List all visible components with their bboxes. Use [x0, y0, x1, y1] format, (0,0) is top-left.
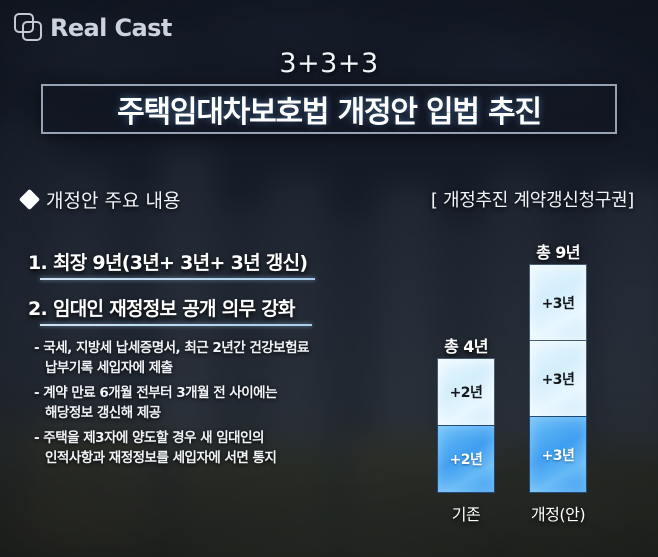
brand-logo: Real Cast: [14, 13, 172, 42]
bar-total-label: 총 9년: [529, 239, 587, 263]
list-item: 1. 최장 9년(3년+ 3년+ 3년 갱신): [28, 248, 307, 275]
bullet-line-1: - 주택을 제3자에 양도할 경우 새 임대인의: [34, 430, 264, 446]
infographic-canvas: Real Cast 3+3+3 주택임대차보호법 개정안 입법 추진 개정안 주…: [0, 0, 658, 557]
overlapping-squares-icon: [14, 13, 43, 42]
headline-title-box: 주택임대차보호법 개정안 입법 추진: [41, 84, 617, 134]
section-heading: 개정안 주요 내용: [22, 186, 180, 213]
bullet-line-2: 납부기록 세입자에 제출: [34, 358, 364, 378]
list-item: - 계약 만료 6개월 전부터 3개월 전 사이에는 해당정보 갱신해 제공: [34, 383, 364, 423]
stacked-bar-chart: 총 4년 +2년 +2년 기존 총 9년 +3년 +3년 +3년 개정(안): [400, 215, 650, 535]
bar-segment: +3년: [529, 264, 587, 341]
bar-segment: +3년: [529, 340, 587, 417]
bar-group-existing: 총 4년 +2년 +2년 기존: [437, 359, 495, 493]
bar-group-revised: 총 9년 +3년 +3년 +3년 개정(안): [529, 265, 587, 493]
list-item: - 주택을 제3자에 양도할 경우 새 임대인의 인적사항과 재정정보를 세입자…: [34, 428, 364, 468]
bar-category-label: 기존: [425, 501, 507, 525]
underline-accent: [40, 278, 315, 280]
bar-category-label: 개정(안): [517, 501, 599, 525]
bullet-line-1: - 계약 만료 6개월 전부터 3개월 전 사이에는: [34, 385, 277, 401]
list-item: 2. 임대인 재정정보 공개 의무 강화: [28, 294, 295, 321]
bullet-list: - 국세, 지방세 납세증명서, 최근 2년간 건강보험료 납부기록 세입자에 …: [34, 338, 364, 473]
diamond-bullet-icon: [19, 189, 40, 210]
bar-total-label: 총 4년: [437, 333, 495, 357]
bar-existing: +2년 +2년: [437, 359, 495, 493]
chart-title: [ 개정추진 계약갱신청구권]: [431, 186, 634, 212]
bullet-line-2: 인적사항과 재정정보를 세입자에 서면 통지: [34, 448, 364, 468]
bar-segment: +2년: [437, 425, 495, 493]
list-item: - 국세, 지방세 납세증명서, 최근 2년간 건강보험료 납부기록 세입자에 …: [34, 338, 364, 378]
underline-accent: [40, 324, 312, 326]
page-title: 주택임대차보호법 개정안 입법 추진: [117, 87, 541, 131]
bar-segment: +3년: [529, 416, 587, 493]
headline-eyebrow: 3+3+3: [0, 48, 658, 79]
bar-segment: +2년: [437, 358, 495, 426]
section-heading-label: 개정안 주요 내용: [46, 186, 180, 213]
bullet-line-1: - 국세, 지방세 납세증명서, 최근 2년간 건강보험료: [34, 340, 309, 356]
bar-revised: +3년 +3년 +3년: [529, 265, 587, 493]
brand-name: Real Cast: [50, 14, 172, 42]
bullet-line-2: 해당정보 갱신해 제공: [34, 403, 364, 423]
